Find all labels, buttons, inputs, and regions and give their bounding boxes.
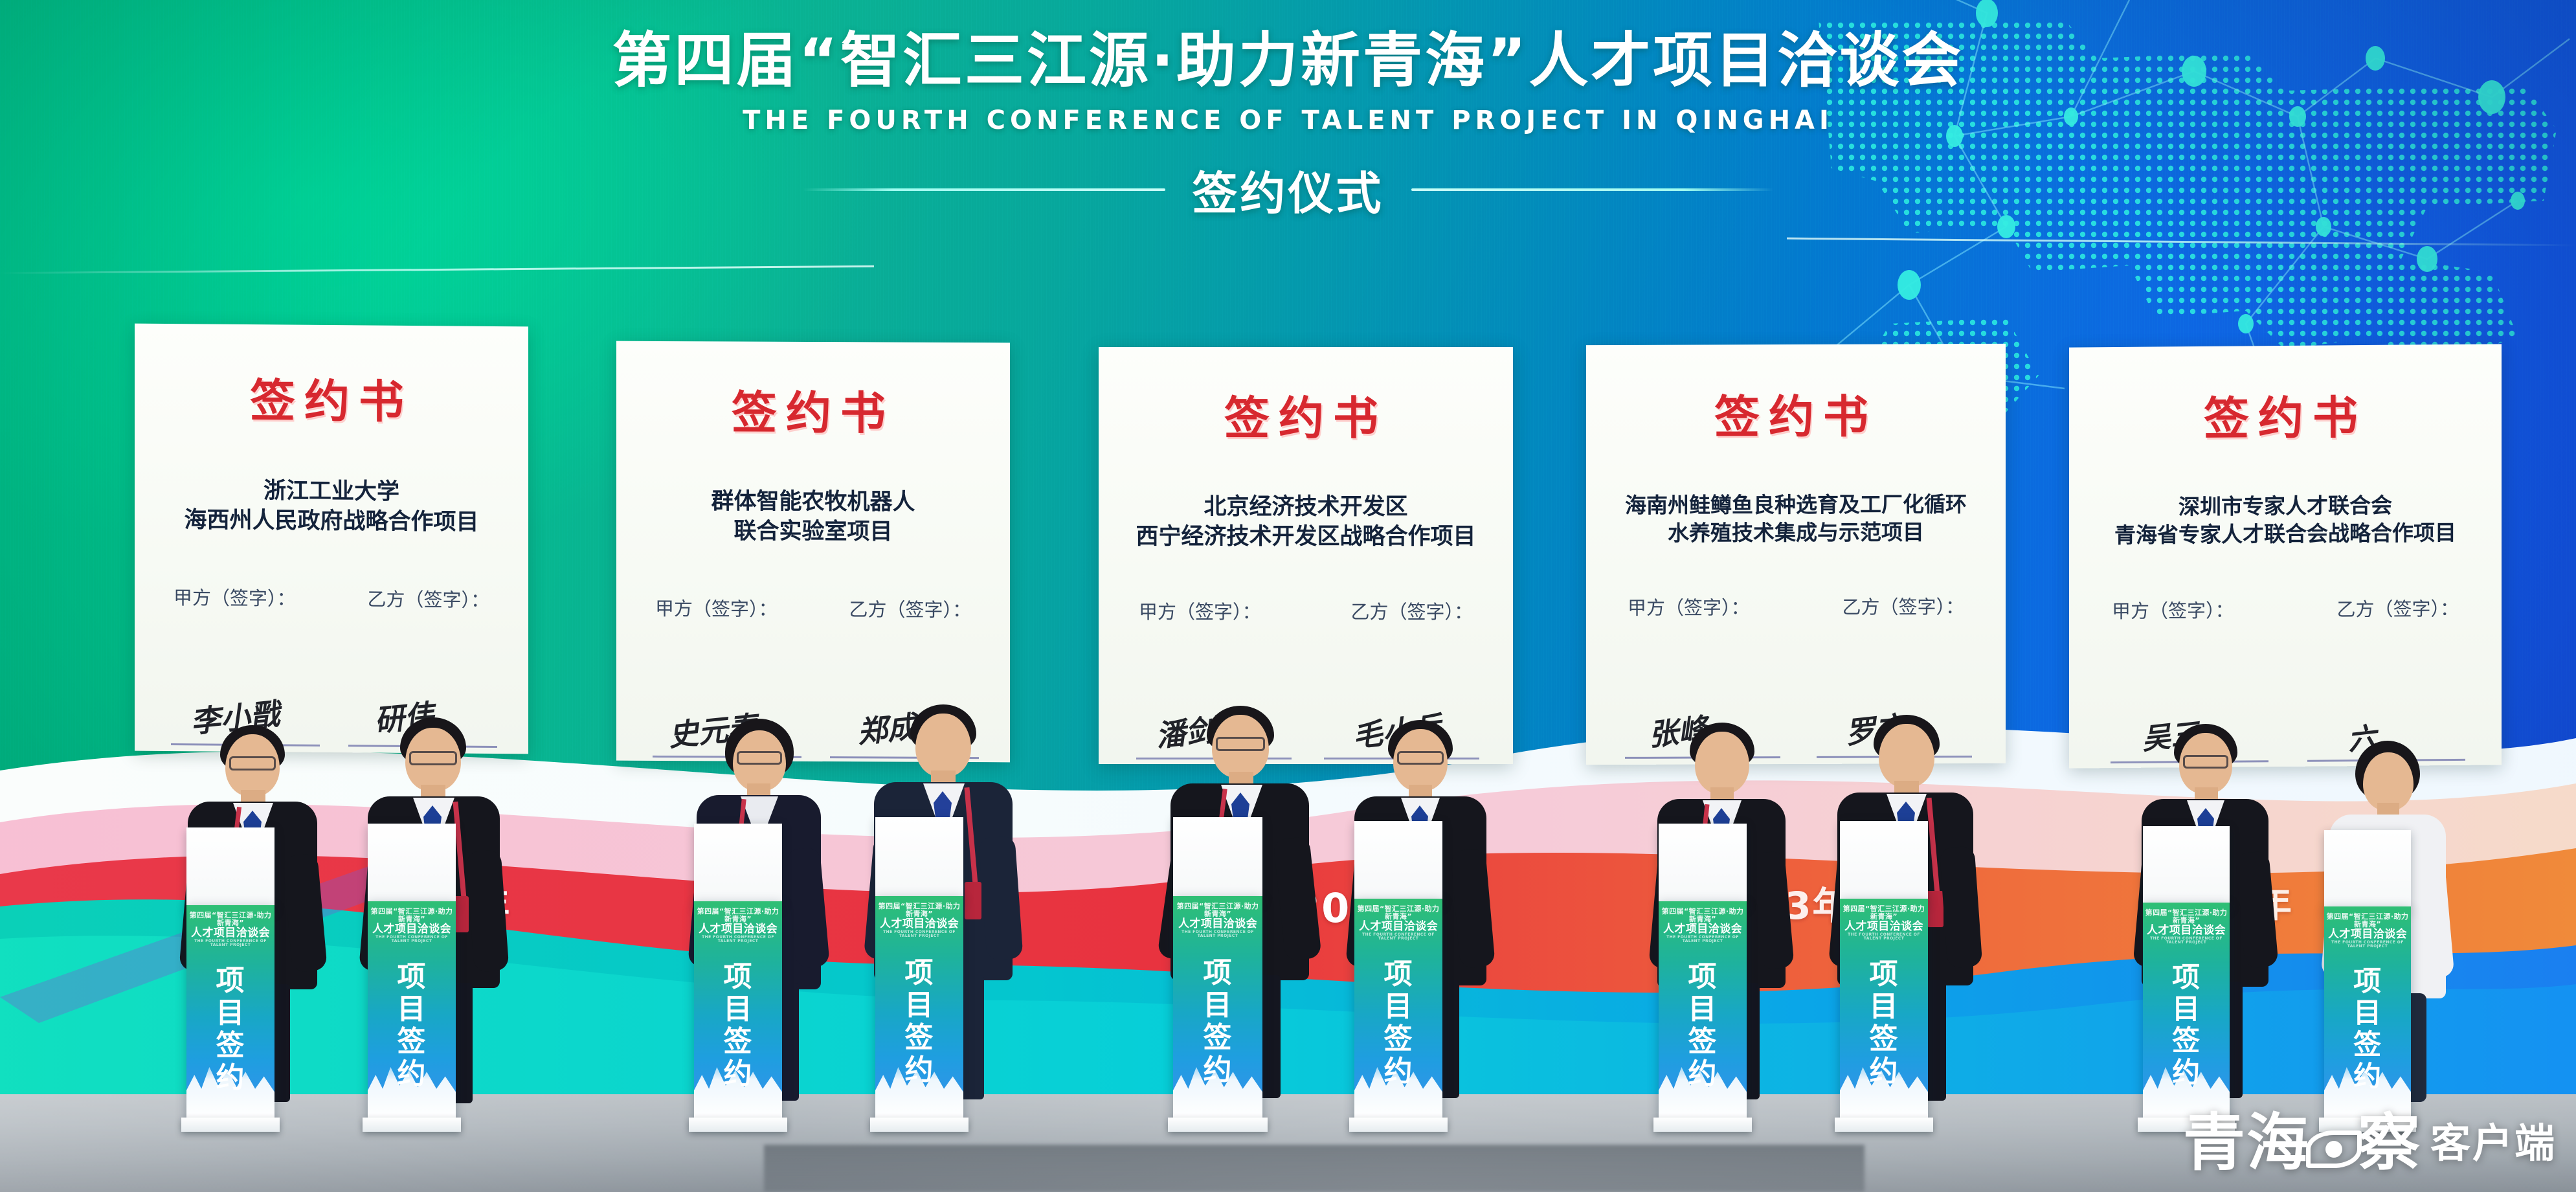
party-a-label: 甲方（签字）： bbox=[2112, 595, 2234, 623]
podium-paper bbox=[1354, 821, 1442, 904]
signing-board-4: 签约书 海南州鲑鳟鱼良种选育及工厂化循环 水养殖技术集成与示范项目 甲方（签字）… bbox=[1586, 344, 2006, 765]
podium-header-line2: 人才项目洽谈会 bbox=[2143, 925, 2230, 937]
glasses-icon bbox=[737, 751, 782, 765]
podium-header-line2: 人才项目洽谈会 bbox=[1354, 921, 1442, 933]
podium-header: 第四届“智汇三江源·助力新青海” 人才项目洽谈会 THE FOURTH CONF… bbox=[1659, 908, 1747, 944]
podium-panel: 第四届“智汇三江源·助力新青海” 人才项目洽谈会 THE FOURTH CONF… bbox=[1840, 899, 1928, 1121]
board-project-line2: 西宁经济技术开发区战略合作项目 bbox=[1099, 523, 1513, 552]
signing-board-3: 签约书 北京经济技术开发区 西宁经济技术开发区战略合作项目 甲方（签字）： 乙方… bbox=[1099, 347, 1513, 764]
podium-char-3: 签 bbox=[368, 1026, 456, 1058]
board-project-line2: 青海省专家人才联合会战略合作项目 bbox=[2069, 519, 2502, 550]
podium-header: 第四届“智汇三江源·助力新青海” 人才项目洽谈会 THE FOURTH CONF… bbox=[2143, 909, 2230, 945]
podium-header-line3: THE FOURTH CONFERENCE OF TALENT PROJECT bbox=[1354, 933, 1442, 941]
podium-header: 第四届“智汇三江源·助力新青海” 人才项目洽谈会 THE FOURTH CONF… bbox=[368, 908, 456, 944]
party-a-label: 甲方（签字）： bbox=[1139, 597, 1261, 624]
podium-header-line3: THE FOURTH CONFERENCE OF TALENT PROJECT bbox=[2324, 941, 2411, 949]
podium-char-2: 目 bbox=[2143, 994, 2230, 1026]
podium-char-1: 项 bbox=[1659, 961, 1747, 993]
party-b-label: 乙方（签字）： bbox=[1842, 592, 1964, 620]
podium-vertical-text: 项 目 签 约 bbox=[2324, 966, 2411, 1093]
board-project-line1: 海南州鲑鳟鱼良种选育及工厂化循环 bbox=[1586, 491, 2006, 520]
podium-char-3: 签 bbox=[1659, 1026, 1747, 1058]
podium-char-3: 签 bbox=[186, 1029, 274, 1062]
signing-board-2: 签约书 群体智能农牧机器人 联合实验室项目 甲方（签字）： 乙方（签字）： 史元… bbox=[616, 341, 1010, 763]
podium-char-2: 目 bbox=[875, 989, 963, 1022]
watermark-brand-part1: 青海 bbox=[2183, 1106, 2310, 1179]
board-signature-labels: 甲方（签字）： 乙方（签字）： bbox=[1586, 592, 2006, 620]
glasses-icon bbox=[409, 751, 457, 765]
podium-char-1: 项 bbox=[186, 965, 274, 997]
podium-3: 第四届“智汇三江源·助力新青海” 人才项目洽谈会 THE FOURTH CONF… bbox=[694, 824, 782, 1132]
podium-7: 第四届“智汇三江源·助力新青海” 人才项目洽谈会 THE FOURTH CONF… bbox=[1659, 824, 1747, 1132]
face bbox=[915, 714, 971, 777]
watermark-suffix: 客户端 bbox=[2430, 1110, 2557, 1174]
podium-char-3: 签 bbox=[2324, 1029, 2411, 1061]
podium-panel: 第四届“智汇三江源·助力新青海” 人才项目洽谈会 THE FOURTH CONF… bbox=[694, 901, 782, 1121]
event-title-english: THE FOURTH CONFERENCE OF TALENT PROJECT … bbox=[0, 106, 2576, 135]
podium-base bbox=[1168, 1118, 1268, 1132]
watermark-logo: 青海 察 客户端 bbox=[2183, 1110, 2557, 1174]
podium-paper bbox=[1173, 817, 1262, 901]
podium-vertical-text: 项 目 签 约 bbox=[368, 961, 456, 1091]
podium-header-line3: THE FOURTH CONFERENCE OF TALENT PROJECT bbox=[2143, 937, 2230, 945]
party-a-label: 甲方（签字）： bbox=[1628, 592, 1750, 620]
board-heading: 签约书 bbox=[1099, 382, 1513, 447]
party-b-label: 乙方（签字）： bbox=[1350, 597, 1473, 624]
stage-floor-shadow bbox=[764, 1145, 1865, 1192]
podium-8: 第四届“智汇三江源·助力新青海” 人才项目洽谈会 THE FOURTH CONF… bbox=[1840, 821, 1928, 1132]
podium-10: 第四届“智汇三江源·助力新青海” 人才项目洽谈会 THE FOURTH CONF… bbox=[2324, 830, 2411, 1132]
podium-char-2: 目 bbox=[694, 993, 782, 1026]
podium-panel: 第四届“智汇三江源·助力新青海” 人才项目洽谈会 THE FOURTH CONF… bbox=[1173, 896, 1262, 1121]
podium-char-2: 目 bbox=[1173, 989, 1262, 1022]
podium-header-line2: 人才项目洽谈会 bbox=[875, 918, 963, 930]
party-b-label: 乙方（签字）： bbox=[367, 584, 489, 612]
podium-header: 第四届“智汇三江源·助力新青海” 人才项目洽谈会 THE FOURTH CONF… bbox=[1173, 903, 1262, 939]
podium-paper bbox=[1659, 824, 1747, 906]
glasses-icon bbox=[1216, 737, 1265, 751]
podium-header-line1: 第四届“智汇三江源·助力新青海” bbox=[694, 908, 782, 923]
podium-vertical-text: 项 目 签 约 bbox=[1173, 957, 1262, 1087]
glasses-icon bbox=[2183, 755, 2228, 769]
podium-panel: 第四届“智汇三江源·助力新青海” 人才项目洽谈会 THE FOURTH CONF… bbox=[2143, 903, 2230, 1121]
podium-header-line3: THE FOURTH CONFERENCE OF TALENT PROJECT bbox=[1840, 933, 1928, 941]
podium-header: 第四届“智汇三江源·助力新青海” 人才项目洽谈会 THE FOURTH CONF… bbox=[1840, 905, 1928, 941]
podium-char-3: 签 bbox=[1354, 1023, 1442, 1055]
event-title-chinese: 第四届“智汇三江源·助力新青海”人才项目洽谈会 bbox=[0, 26, 2576, 96]
board-project-line2: 水养殖技术集成与示范项目 bbox=[1586, 519, 2006, 548]
podium-char-3: 签 bbox=[694, 1026, 782, 1058]
podium-char-3: 签 bbox=[875, 1022, 963, 1054]
podium-5: 第四届“智汇三江源·助力新青海” 人才项目洽谈会 THE FOURTH CONF… bbox=[1173, 817, 1262, 1132]
watermark-brand-part2: 察 bbox=[2358, 1106, 2421, 1179]
podium-header-line3: THE FOURTH CONFERENCE OF TALENT PROJECT bbox=[368, 936, 456, 944]
podium-header-line2: 人才项目洽谈会 bbox=[2324, 928, 2411, 941]
board-heading: 签约书 bbox=[135, 364, 528, 433]
podium-vertical-text: 项 目 签 约 bbox=[2143, 962, 2230, 1089]
board-heading: 签约书 bbox=[616, 376, 1010, 444]
podium-vertical-text: 项 目 签 约 bbox=[1354, 958, 1442, 1088]
name-badge bbox=[1927, 891, 1943, 927]
podium-panel: 第四届“智汇三江源·助力新青海” 人才项目洽谈会 THE FOURTH CONF… bbox=[1354, 899, 1442, 1121]
ceremony-photo: 第四届“智汇三江源·助力新青海”人才项目洽谈会 THE FOURTH CONFE… bbox=[0, 0, 2576, 1192]
subtitle-rule-right bbox=[1411, 188, 1774, 191]
podium-paper bbox=[186, 827, 274, 910]
podium-vertical-text: 项 目 签 约 bbox=[694, 961, 782, 1091]
podium-header-line2: 人才项目洽谈会 bbox=[1659, 923, 1747, 936]
arm-right bbox=[466, 849, 510, 972]
board-signature-labels: 甲方（签字）： 乙方（签字）： bbox=[616, 594, 1010, 623]
podium-9: 第四届“智汇三江源·助力新青海” 人才项目洽谈会 THE FOURTH CONF… bbox=[2143, 826, 2230, 1132]
podium-2: 第四届“智汇三江源·助力新青海” 人才项目洽谈会 THE FOURTH CONF… bbox=[368, 824, 456, 1132]
podium-header: 第四届“智汇三江源·助力新青海” 人才项目洽谈会 THE FOURTH CONF… bbox=[694, 908, 782, 944]
podium-header-line2: 人才项目洽谈会 bbox=[1173, 918, 1262, 930]
podium-char-1: 项 bbox=[2143, 962, 2230, 994]
podium-paper bbox=[2324, 830, 2411, 912]
podium-char-1: 项 bbox=[368, 961, 456, 993]
podium-char-2: 目 bbox=[2324, 998, 2411, 1029]
podium-header: 第四届“智汇三江源·助力新青海” 人才项目洽谈会 THE FOURTH CONF… bbox=[1354, 905, 1442, 941]
eye-icon bbox=[2306, 1130, 2362, 1168]
board-project-line1: 浙江工业大学 bbox=[135, 476, 528, 508]
podium-header-line3: THE FOURTH CONFERENCE OF TALENT PROJECT bbox=[1173, 930, 1262, 939]
podium-vertical-text: 项 目 签 约 bbox=[1659, 961, 1747, 1091]
subtitle-rule-left bbox=[803, 188, 1165, 191]
arm-right bbox=[978, 835, 1023, 960]
event-subtitle: 签约仪式 bbox=[1193, 157, 1384, 223]
podium-char-1: 项 bbox=[2324, 966, 2411, 998]
podium-panel: 第四届“智汇三江源·助力新青海” 人才项目洽谈会 THE FOURTH CONF… bbox=[368, 901, 456, 1121]
board-project-line1: 群体智能农牧机器人 bbox=[616, 487, 1010, 518]
podium-header-line1: 第四届“智汇三江源·助力新青海” bbox=[1840, 905, 1928, 921]
podium-char-1: 项 bbox=[875, 957, 963, 989]
podium-char-2: 目 bbox=[1840, 991, 1928, 1023]
podium-header-line2: 人才项目洽谈会 bbox=[694, 923, 782, 936]
podium-paper bbox=[2143, 826, 2230, 908]
face bbox=[2363, 752, 2414, 811]
board-signature-labels: 甲方（签字）： 乙方（签字）： bbox=[1099, 597, 1513, 624]
podium-header-line1: 第四届“智汇三江源·助力新青海” bbox=[2143, 909, 2230, 925]
podium-char-3: 签 bbox=[1173, 1022, 1262, 1054]
podium-panel: 第四届“智汇三江源·助力新青海” 人才项目洽谈会 THE FOURTH CONF… bbox=[186, 905, 274, 1121]
podium-panel: 第四届“智汇三江源·助力新青海” 人才项目洽谈会 THE FOURTH CONF… bbox=[2324, 906, 2411, 1121]
podium-char-1: 项 bbox=[694, 961, 782, 993]
podium-vertical-text: 项 目 签 约 bbox=[186, 965, 274, 1095]
podium-paper bbox=[875, 817, 963, 901]
arm-right bbox=[1940, 846, 1983, 968]
face bbox=[1695, 732, 1749, 794]
podium-char-2: 目 bbox=[1659, 993, 1747, 1026]
podium-header-line3: THE FOURTH CONFERENCE OF TALENT PROJECT bbox=[186, 939, 274, 948]
name-badge bbox=[965, 882, 981, 919]
podium-char-1: 项 bbox=[1173, 957, 1262, 989]
podium-header-line1: 第四届“智汇三江源·助力新青海” bbox=[1354, 905, 1442, 921]
board-project-line1: 深圳市专家人才联合会 bbox=[2069, 491, 2502, 522]
podium-header-line2: 人才项目洽谈会 bbox=[1840, 921, 1928, 933]
podium-paper bbox=[1840, 821, 1928, 904]
podium-panel: 第四届“智汇三江源·助力新青海” 人才项目洽谈会 THE FOURTH CONF… bbox=[875, 896, 963, 1121]
podium-header-line1: 第四届“智汇三江源·助力新青海” bbox=[1659, 908, 1747, 923]
board-signature-labels: 甲方（签字）： 乙方（签字）： bbox=[2069, 593, 2502, 624]
podium-base bbox=[870, 1118, 969, 1132]
podium-header-line2: 人才项目洽谈会 bbox=[368, 923, 456, 936]
event-title-block: 第四届“智汇三江源·助力新青海”人才项目洽谈会 THE FOURTH CONFE… bbox=[0, 26, 2576, 223]
board-heading: 签约书 bbox=[2069, 380, 2502, 449]
signing-board-1: 签约书 浙江工业大学 海西州人民政府战略合作项目 甲方（签字）： 乙方（签字）：… bbox=[135, 324, 528, 754]
podium-char-3: 签 bbox=[2143, 1026, 2230, 1057]
podium-char-1: 项 bbox=[1840, 958, 1928, 991]
podium-char-2: 目 bbox=[186, 997, 274, 1029]
board-heading: 签约书 bbox=[1586, 380, 2006, 447]
podium-char-2: 目 bbox=[1354, 991, 1442, 1023]
podium-header-line1: 第四届“智汇三江源·助力新青海” bbox=[186, 912, 274, 927]
podium-panel: 第四届“智汇三江源·助力新青海” 人才项目洽谈会 THE FOURTH CONF… bbox=[1659, 901, 1747, 1121]
podium-base bbox=[689, 1118, 787, 1132]
party-a-label: 甲方（签字）： bbox=[655, 594, 778, 622]
podium-header: 第四届“智汇三江源·助力新青海” 人才项目洽谈会 THE FOURTH CONF… bbox=[186, 912, 274, 948]
podium-header: 第四届“智汇三江源·助力新青海” 人才项目洽谈会 THE FOURTH CONF… bbox=[875, 903, 963, 939]
podium-base bbox=[363, 1118, 461, 1132]
podium-base bbox=[1653, 1118, 1752, 1132]
podium-header-line1: 第四届“智汇三江源·助力新青海” bbox=[368, 908, 456, 923]
podium-header-line1: 第四届“智汇三江源·助力新青海” bbox=[875, 903, 963, 918]
podium-header-line1: 第四届“智汇三江源·助力新青海” bbox=[1173, 903, 1262, 918]
podium-char-2: 目 bbox=[368, 993, 456, 1026]
podium-vertical-text: 项 目 签 约 bbox=[1840, 958, 1928, 1088]
podium-base bbox=[1349, 1118, 1448, 1132]
podium-header-line3: THE FOURTH CONFERENCE OF TALENT PROJECT bbox=[875, 930, 963, 939]
podium-6: 第四届“智汇三江源·助力新青海” 人才项目洽谈会 THE FOURTH CONF… bbox=[1354, 821, 1442, 1132]
board-project-line2: 联合实验室项目 bbox=[616, 516, 1010, 547]
eye-pupil bbox=[2325, 1141, 2342, 1158]
podium-header-line3: THE FOURTH CONFERENCE OF TALENT PROJECT bbox=[1659, 936, 1747, 944]
podium-char-1: 项 bbox=[1354, 958, 1442, 991]
podium-header: 第四届“智汇三江源·助力新青海” 人才项目洽谈会 THE FOURTH CONF… bbox=[2324, 913, 2411, 949]
watermark-brand: 青海 察 bbox=[2183, 1112, 2421, 1174]
face bbox=[1879, 724, 1934, 787]
podium-1: 第四届“智汇三江源·助力新青海” 人才项目洽谈会 THE FOURTH CONF… bbox=[186, 827, 274, 1132]
podium-header-line1: 第四届“智汇三江源·助力新青海” bbox=[2324, 913, 2411, 928]
podium-base bbox=[181, 1118, 280, 1132]
podium-paper bbox=[368, 824, 456, 906]
signing-board-5: 签约书 深圳市专家人才联合会 青海省专家人才联合会战略合作项目 甲方（签字）： … bbox=[2069, 344, 2502, 768]
podium-4: 第四届“智汇三江源·助力新青海” 人才项目洽谈会 THE FOURTH CONF… bbox=[875, 817, 963, 1132]
glasses-icon bbox=[229, 756, 276, 770]
subtitle-row: 签约仪式 bbox=[0, 157, 2576, 223]
party-a-label: 甲方（签字）： bbox=[174, 583, 296, 611]
party-b-label: 乙方（签字）： bbox=[2336, 594, 2459, 622]
board-project-line2: 海西州人民政府战略合作项目 bbox=[135, 505, 528, 537]
board-project-line1: 北京经济技术开发区 bbox=[1099, 493, 1513, 523]
podium-header-line2: 人才项目洽谈会 bbox=[186, 927, 274, 939]
board-signature-labels: 甲方（签字）： 乙方（签字）： bbox=[135, 583, 528, 613]
podium-paper bbox=[694, 824, 782, 906]
party-b-label: 乙方（签字）： bbox=[849, 594, 971, 622]
podium-char-3: 签 bbox=[1840, 1023, 1928, 1055]
podium-header-line3: THE FOURTH CONFERENCE OF TALENT PROJECT bbox=[694, 936, 782, 944]
podium-vertical-text: 项 目 签 约 bbox=[875, 957, 963, 1087]
glasses-icon bbox=[1397, 751, 1444, 765]
podium-base bbox=[1835, 1118, 1933, 1132]
